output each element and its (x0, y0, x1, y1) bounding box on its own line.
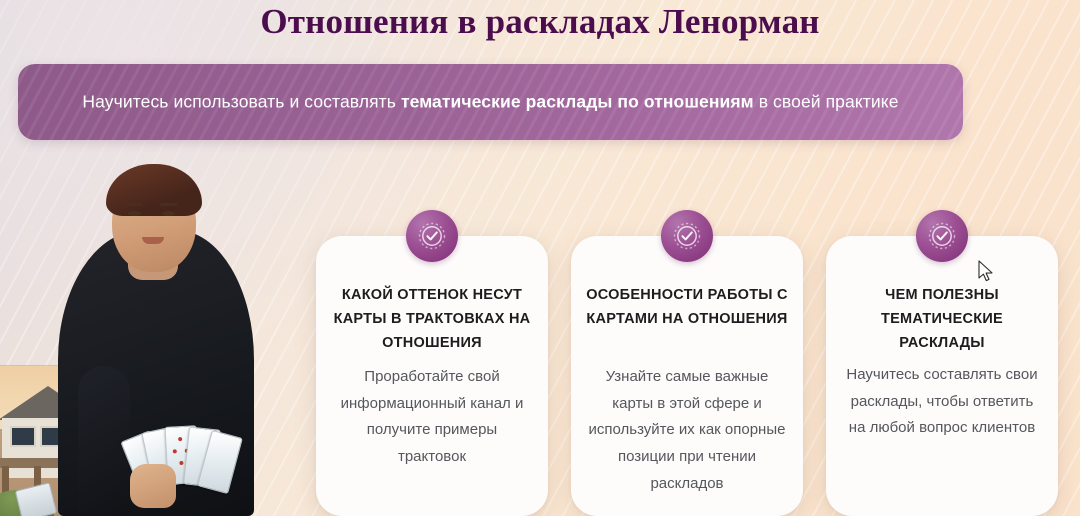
presenter-head (112, 172, 196, 272)
lenormand-card (120, 430, 171, 496)
lenormand-card (141, 426, 184, 489)
card-title: ЧЕМ ПОЛЕЗНЫ ТЕМАТИЧЕСКИЕ РАСКЛАДЫ (840, 284, 1044, 356)
subtitle-banner: Научитесь использовать и составлять тема… (18, 64, 963, 140)
presenter-mouth (142, 237, 164, 244)
house-roof (0, 386, 98, 420)
page-title: Отношения в раскладах Ленорман (0, 2, 1080, 42)
presenter-neck (128, 236, 178, 280)
lenormand-card (183, 426, 221, 487)
presenter-hair-top (106, 164, 202, 216)
banner-text: Научитесь использовать и составлять тема… (18, 92, 963, 113)
house-post (34, 466, 41, 504)
feature-card[interactable]: ЧЕМ ПОЛЕЗНЫ ТЕМАТИЧЕСКИЕ РАСКЛАДЫ Научит… (826, 236, 1058, 516)
house-porch (0, 458, 106, 468)
feature-card[interactable]: ОСОБЕННОСТИ РАБОТЫ С КАРТАМИ НА ОТНОШЕНИ… (571, 236, 803, 516)
check-circle-icon (406, 210, 458, 262)
lenormand-card (197, 430, 243, 494)
lenormand-card (165, 425, 200, 485)
house-post (2, 466, 9, 504)
presenter-photo (0, 156, 300, 516)
landing-page: Отношения в раскладах Ленорман Научитесь… (0, 0, 1080, 516)
presenter-arm (78, 366, 130, 516)
loose-card (15, 482, 58, 516)
presenter-eyebrow (126, 203, 143, 206)
card-title: ОСОБЕННОСТИ РАБОТЫ С КАРТАМИ НА ОТНОШЕНИ… (585, 284, 789, 332)
banner-text-bold: тематические расклады по отношениям (401, 92, 754, 112)
card-body: Научитесь составлять свои расклады, чтоб… (842, 362, 1042, 442)
lenormand-card-fan (130, 432, 240, 494)
house-window (74, 426, 98, 447)
house-post (68, 466, 75, 504)
banner-text-after: в своей практике (754, 92, 899, 112)
house-bush (0, 490, 54, 516)
house-card-image (0, 366, 112, 516)
presenter-hand (130, 464, 176, 508)
house-window (40, 426, 72, 447)
presenter-torso (58, 230, 254, 516)
presenter-eye (162, 211, 175, 216)
presenter-eye (128, 211, 141, 216)
card-body: Проработайте свой информационный канал и… (332, 364, 532, 471)
house-window (10, 426, 36, 447)
feature-card[interactable]: КАКОЙ ОТТЕНОК НЕСУТ КАРТЫ В ТРАКТОВКАХ Н… (316, 236, 548, 516)
card-body: Узнайте самые важные карты в этой сфере … (587, 364, 787, 497)
check-circle-icon (661, 210, 713, 262)
house-sky (0, 366, 112, 429)
presenter-hair (96, 160, 214, 356)
check-circle-icon (916, 210, 968, 262)
banner-text-before: Научитесь использовать и составлять (82, 92, 401, 112)
card-title: КАКОЙ ОТТЕНОК НЕСУТ КАРТЫ В ТРАКТОВКАХ Н… (330, 284, 534, 356)
house-wall (2, 418, 98, 478)
presenter-eyebrow (160, 203, 177, 206)
